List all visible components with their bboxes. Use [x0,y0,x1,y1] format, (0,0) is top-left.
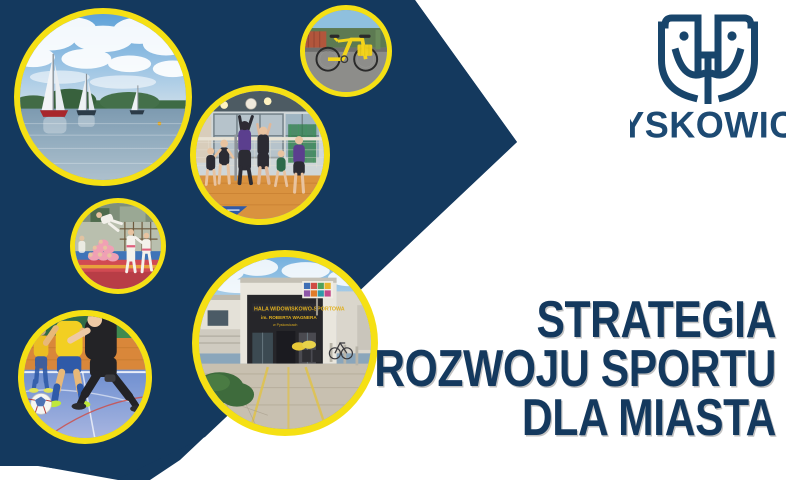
title-line-2: ROZWOJU SPORTU [341,345,776,394]
photo-bicycle [305,10,387,92]
photo-taekwondo [75,203,161,289]
photo-bubble-sailing [14,8,192,186]
poster-canvas: an [0,0,800,480]
poster-title: STRATEGIA ROZWOJU SPORTU DLA MIASTA [246,296,776,443]
photo-bubble-volleyball [190,85,330,225]
photo-bubble-futsal: an [18,310,152,444]
photo-volleyball [196,91,324,219]
photo-futsal: an [24,316,146,438]
title-line-1: STRATEGIA [341,296,776,345]
photo-sailing [20,14,186,180]
title-line-3: DLA MIASTA [341,394,776,443]
photo-bubble-bicycle [300,5,392,97]
pyskowice-logo: PYSKOWICE [630,8,786,144]
photo-bubble-taekwondo [70,198,166,294]
pyskowice-wordmark-text: PYSKOWICE [630,104,786,144]
pyskowice-face-shield-icon [658,8,758,104]
pyskowice-wordmark: PYSKOWICE [630,104,786,144]
